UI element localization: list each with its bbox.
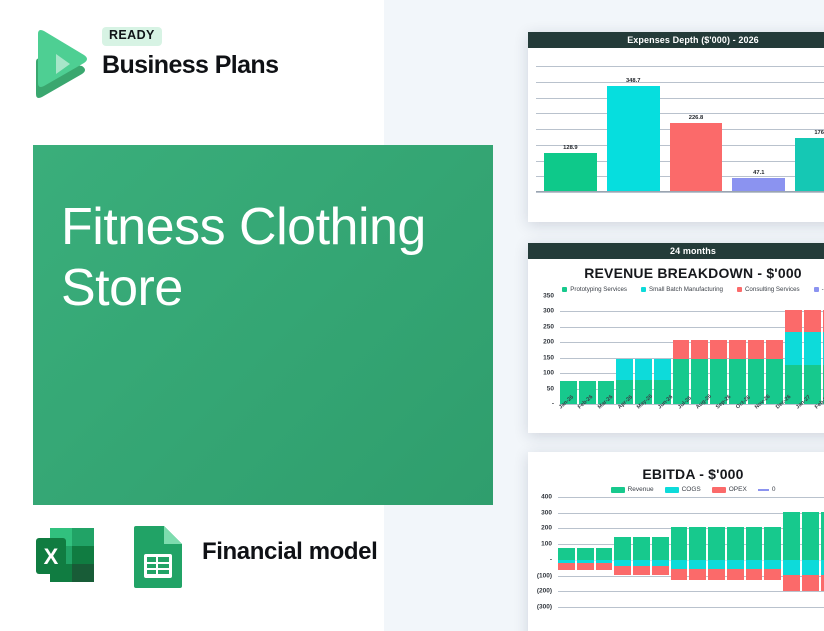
bar-segment-cogs [783,560,800,575]
expenses-axis-baseline [536,191,824,192]
legend-item: Small Batch Manufacturing [641,286,723,293]
bar-segment-revenue [671,527,688,559]
bar-column [691,296,708,404]
bar-segment-opex [708,569,725,580]
ebitda-legend: RevenueCOGSOPEX0 [528,486,824,493]
bar-segment-revenue [802,512,819,560]
bar-segment [766,340,783,359]
play-triangle-logo-icon [26,28,92,100]
legend-item: 0 [758,486,776,493]
expenses-plot-area: 128.9348.7226.847.1176.5 [528,50,824,200]
brand-name: Business Plans [102,52,322,78]
legend-swatch-icon [758,489,769,491]
bar-segment [729,340,746,359]
bar-value-label: 176.5 [795,130,824,136]
svg-text:X: X [44,544,59,569]
legend-swatch-icon [641,287,646,292]
bar-segment [804,310,821,333]
bar-segment-revenue [746,527,763,559]
bar-segment [691,340,708,359]
bar-value-label: 226.8 [670,115,723,121]
bar-segment [654,359,671,380]
y-tick-label: 200 [541,525,552,532]
legend-label: OPEX [729,486,747,493]
legend-swatch-icon [611,487,625,493]
revenue-chart-title: REVENUE BREAKDOWN - $'000 [528,265,824,281]
bar-segment-opex [577,563,594,570]
bar [732,178,785,192]
bar-segment-opex [671,569,688,580]
y-tick-label: 50 [547,385,554,392]
y-tick-label: 300 [541,509,552,516]
y-tick-label: - [550,556,552,563]
bar-segment-opex [633,566,650,574]
bar-column: 226.8 [670,66,723,192]
revenue-legend: Prototyping ServicesSmall Batch Manufact… [528,286,824,293]
footer-formats: X Financial model [30,520,450,600]
ebitda-plot-area: 400300200100-(100)(200)(300) [528,497,824,607]
legend-item: OPEX [712,486,747,493]
bar-column [614,497,631,607]
bar-column [748,296,765,404]
legend-label: Small Batch Manufacturing [649,286,723,293]
microsoft-excel-icon: X [30,520,102,592]
legend-label: Revenue [628,486,654,493]
bar-segment-cogs [764,560,781,569]
bar-value-label: 47.1 [732,170,785,176]
bar-segment-revenue [764,527,781,559]
bar-segment [673,340,690,359]
y-tick-label: 100 [541,541,552,548]
bar-column [689,497,706,607]
bar-column [652,497,669,607]
legend-item: Prototyping Services [562,286,627,293]
bar-column [596,497,613,607]
revenue-bars [560,296,824,404]
bar-segment-revenue [821,512,824,560]
bar-column [633,497,650,607]
bar-column [635,296,652,404]
bar-column [764,497,781,607]
bar-column [598,296,615,404]
ready-badge: READY [102,27,162,46]
bar-segment-revenue [689,527,706,559]
bar-segment [785,310,802,333]
financial-model-label: Financial model [202,538,377,566]
bar-segment-revenue [577,548,594,560]
chart-card-expenses[interactable]: Expenses Depth ($'000) - 2026 128.9348.7… [528,32,824,222]
bar-segment-cogs [727,560,744,569]
bar-segment [804,332,821,364]
bar-segment-cogs [708,560,725,569]
bar-segment-revenue [596,548,613,560]
bar-segment-revenue [633,537,650,560]
bar [607,86,660,192]
bar-value-label: 128.9 [544,145,597,151]
legend-item: - [814,286,824,293]
revenue-x-axis: Jan-26Feb-26Mar-26Apr-26May-26Jun-26Jul-… [558,404,824,430]
bar-segment-cogs [671,560,688,569]
bar-segment-opex [802,575,819,591]
bar-column [654,296,671,404]
bar-column [558,497,575,607]
bar-column [783,497,800,607]
ebitda-chart-title: EBITDA - $'000 [528,466,824,482]
bar-segment [710,340,727,359]
legend-swatch-icon [712,487,726,493]
bar-segment-opex [727,569,744,580]
bar-segment-opex [596,563,613,570]
revenue-banner: 24 months [528,243,824,259]
google-sheets-icon [122,520,194,592]
legend-swatch-icon [737,287,742,292]
bar-column [673,296,690,404]
bar-segment-cogs [746,560,763,569]
bar-segment [616,359,633,380]
bar-segment-opex [614,566,631,574]
legend-swatch-icon [665,487,679,493]
bar-column: 47.1 [732,66,785,192]
ebitda-x-axis [558,607,824,631]
revenue-y-axis: 35030025020015010050- [530,296,556,404]
legend-label: 0 [772,486,776,493]
chart-card-revenue[interactable]: 24 months REVENUE BREAKDOWN - $'000 Prot… [528,243,824,433]
bar-segment-opex [746,569,763,580]
bar-column [708,497,725,607]
slide-canvas: READY Business Plans Fitness Clothing St… [0,0,824,631]
bar-segment-opex [558,563,575,570]
legend-label: COGS [682,486,701,493]
y-tick-label: (100) [537,572,552,579]
y-tick-label: 150 [543,354,554,361]
bar-segment-cogs [652,560,669,567]
legend-label: - [822,286,824,293]
bar-column [746,497,763,607]
bar-column [577,497,594,607]
bar-segment-cogs [821,560,824,575]
bar-column: 176.5 [795,66,824,192]
bar-column [802,497,819,607]
bar-column [671,497,688,607]
chart-card-ebitda[interactable]: EBITDA - $'000 RevenueCOGSOPEX0 40030020… [528,452,824,631]
bar-column [616,296,633,404]
bar-segment-opex [652,566,669,574]
bar-value-label: 348.7 [607,78,660,84]
bar-segment [785,332,802,364]
bar-segment [748,340,765,359]
bar-segment-opex [689,569,706,580]
legend-label: Prototyping Services [570,286,627,293]
legend-item: Revenue [611,486,654,493]
bar-column [804,296,821,404]
brand-logo: READY Business Plans [26,26,326,102]
ebitda-bars [558,497,824,607]
y-tick-label: 250 [543,323,554,330]
legend-item: COGS [665,486,701,493]
brand-text: READY Business Plans [102,26,322,98]
page-title: Fitness Clothing Store [61,197,481,320]
y-tick-label: 400 [541,494,552,501]
expenses-chart-title: Expenses Depth ($'000) - 2026 [528,32,824,48]
legend-swatch-icon [562,287,567,292]
bar-segment-revenue [783,512,800,560]
bar-segment-revenue [614,537,631,560]
legend-swatch-icon [814,287,819,292]
bar-segment-cogs [614,560,631,567]
bar-column [821,497,824,607]
y-tick-label: 300 [543,308,554,315]
bar-segment [635,359,652,380]
bar-column: 348.7 [607,66,660,192]
bar [544,153,597,192]
bar-column [560,296,577,404]
bar-segment-opex [821,575,824,591]
bar-column [766,296,783,404]
bar-column [727,497,744,607]
bar-segment-cogs [802,560,819,575]
bar-column: 128.9 [544,66,597,192]
bar-segment-opex [783,575,800,591]
bar-segment-revenue [727,527,744,559]
bar-column [579,296,596,404]
ebitda-y-axis: 400300200100-(100)(200)(300) [528,497,554,607]
bar-column [729,296,746,404]
bar-segment-revenue [558,548,575,560]
y-tick-label: 100 [543,370,554,377]
hero-block: Fitness Clothing Store [33,145,493,505]
bar-segment-revenue [652,537,669,560]
legend-item: Consulting Services [737,286,800,293]
gridline [536,192,824,193]
bar-segment-opex [764,569,781,580]
expenses-bars: 128.9348.7226.847.1176.5 [544,66,824,192]
bar-segment-cogs [633,560,650,567]
legend-label: Consulting Services [745,286,800,293]
bar-column [785,296,802,404]
bar [795,138,824,192]
bar-column [710,296,727,404]
bar [670,123,723,192]
y-tick-label: 200 [543,339,554,346]
bar-segment-cogs [689,560,706,569]
y-tick-label: 350 [543,293,554,300]
y-tick-label: (200) [537,588,552,595]
y-tick-label: - [552,401,554,408]
revenue-plot-area: 35030025020015010050- [530,296,824,404]
bar-segment-revenue [708,527,725,559]
y-tick-label: (300) [537,604,552,611]
